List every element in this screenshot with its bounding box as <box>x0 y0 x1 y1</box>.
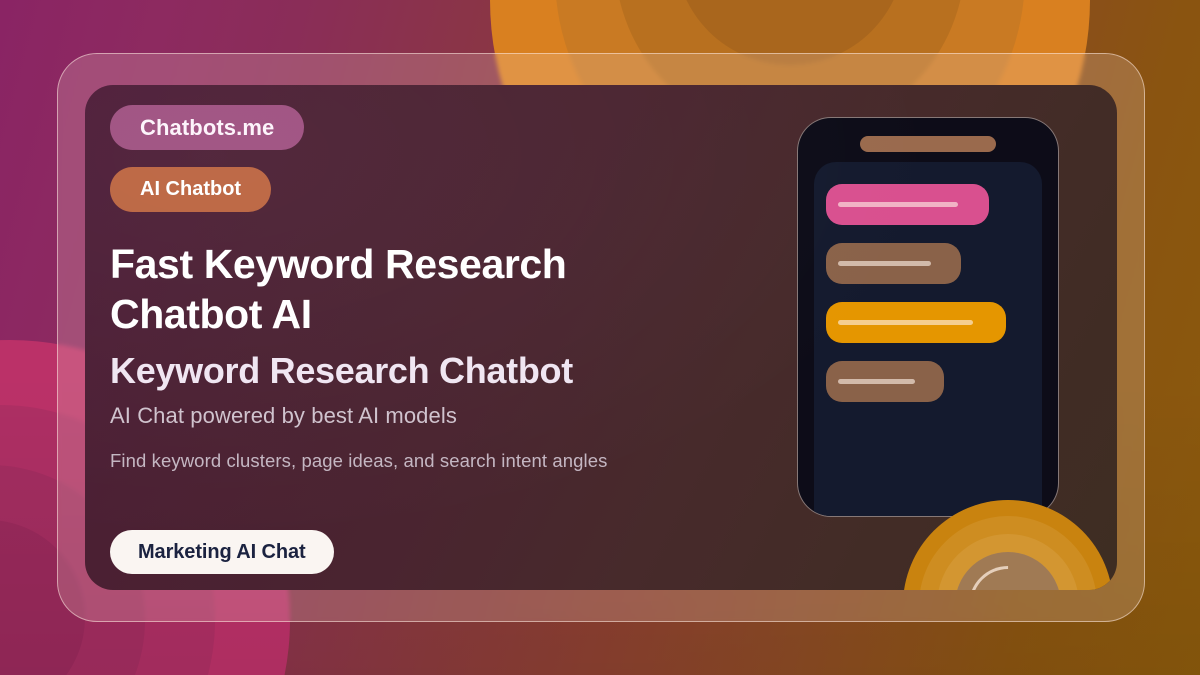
phone-screen <box>814 162 1042 516</box>
page-title: Fast Keyword Research Chatbot AI <box>110 240 630 339</box>
chat-bubble-text-line <box>838 202 958 207</box>
chat-bubble-text-line <box>838 320 973 325</box>
hero-tagline: AI Chat powered by best AI models <box>110 403 730 429</box>
chat-bubble-pink <box>826 184 989 225</box>
page-subtitle: Keyword Research Chatbot <box>110 349 730 392</box>
chat-bubble-text-line <box>838 261 931 266</box>
chat-bubble-brown-2 <box>826 361 944 402</box>
brand-badge[interactable]: Chatbots.me <box>110 105 304 150</box>
marketing-ai-chat-button[interactable]: Marketing AI Chat <box>110 530 334 574</box>
hero-text-column: Chatbots.me AI Chatbot Fast Keyword Rese… <box>110 105 730 472</box>
phone-notch-bar <box>860 136 996 152</box>
chat-bubble-text-line <box>838 379 915 384</box>
chat-bubble-list <box>814 184 1042 402</box>
category-tag-badge[interactable]: AI Chatbot <box>110 167 271 212</box>
hero-banner: Chatbots.me AI Chatbot Fast Keyword Rese… <box>0 0 1200 675</box>
chat-bubble-orange <box>826 302 1006 343</box>
phone-shell <box>797 117 1059 517</box>
chat-bubble-brown-1 <box>826 243 961 284</box>
content-card: Chatbots.me AI Chatbot Fast Keyword Rese… <box>85 85 1117 590</box>
smiley-face-badge <box>903 500 1113 590</box>
hero-description: Find keyword clusters, page ideas, and s… <box>110 450 730 472</box>
phone-mockup <box>797 117 1059 517</box>
